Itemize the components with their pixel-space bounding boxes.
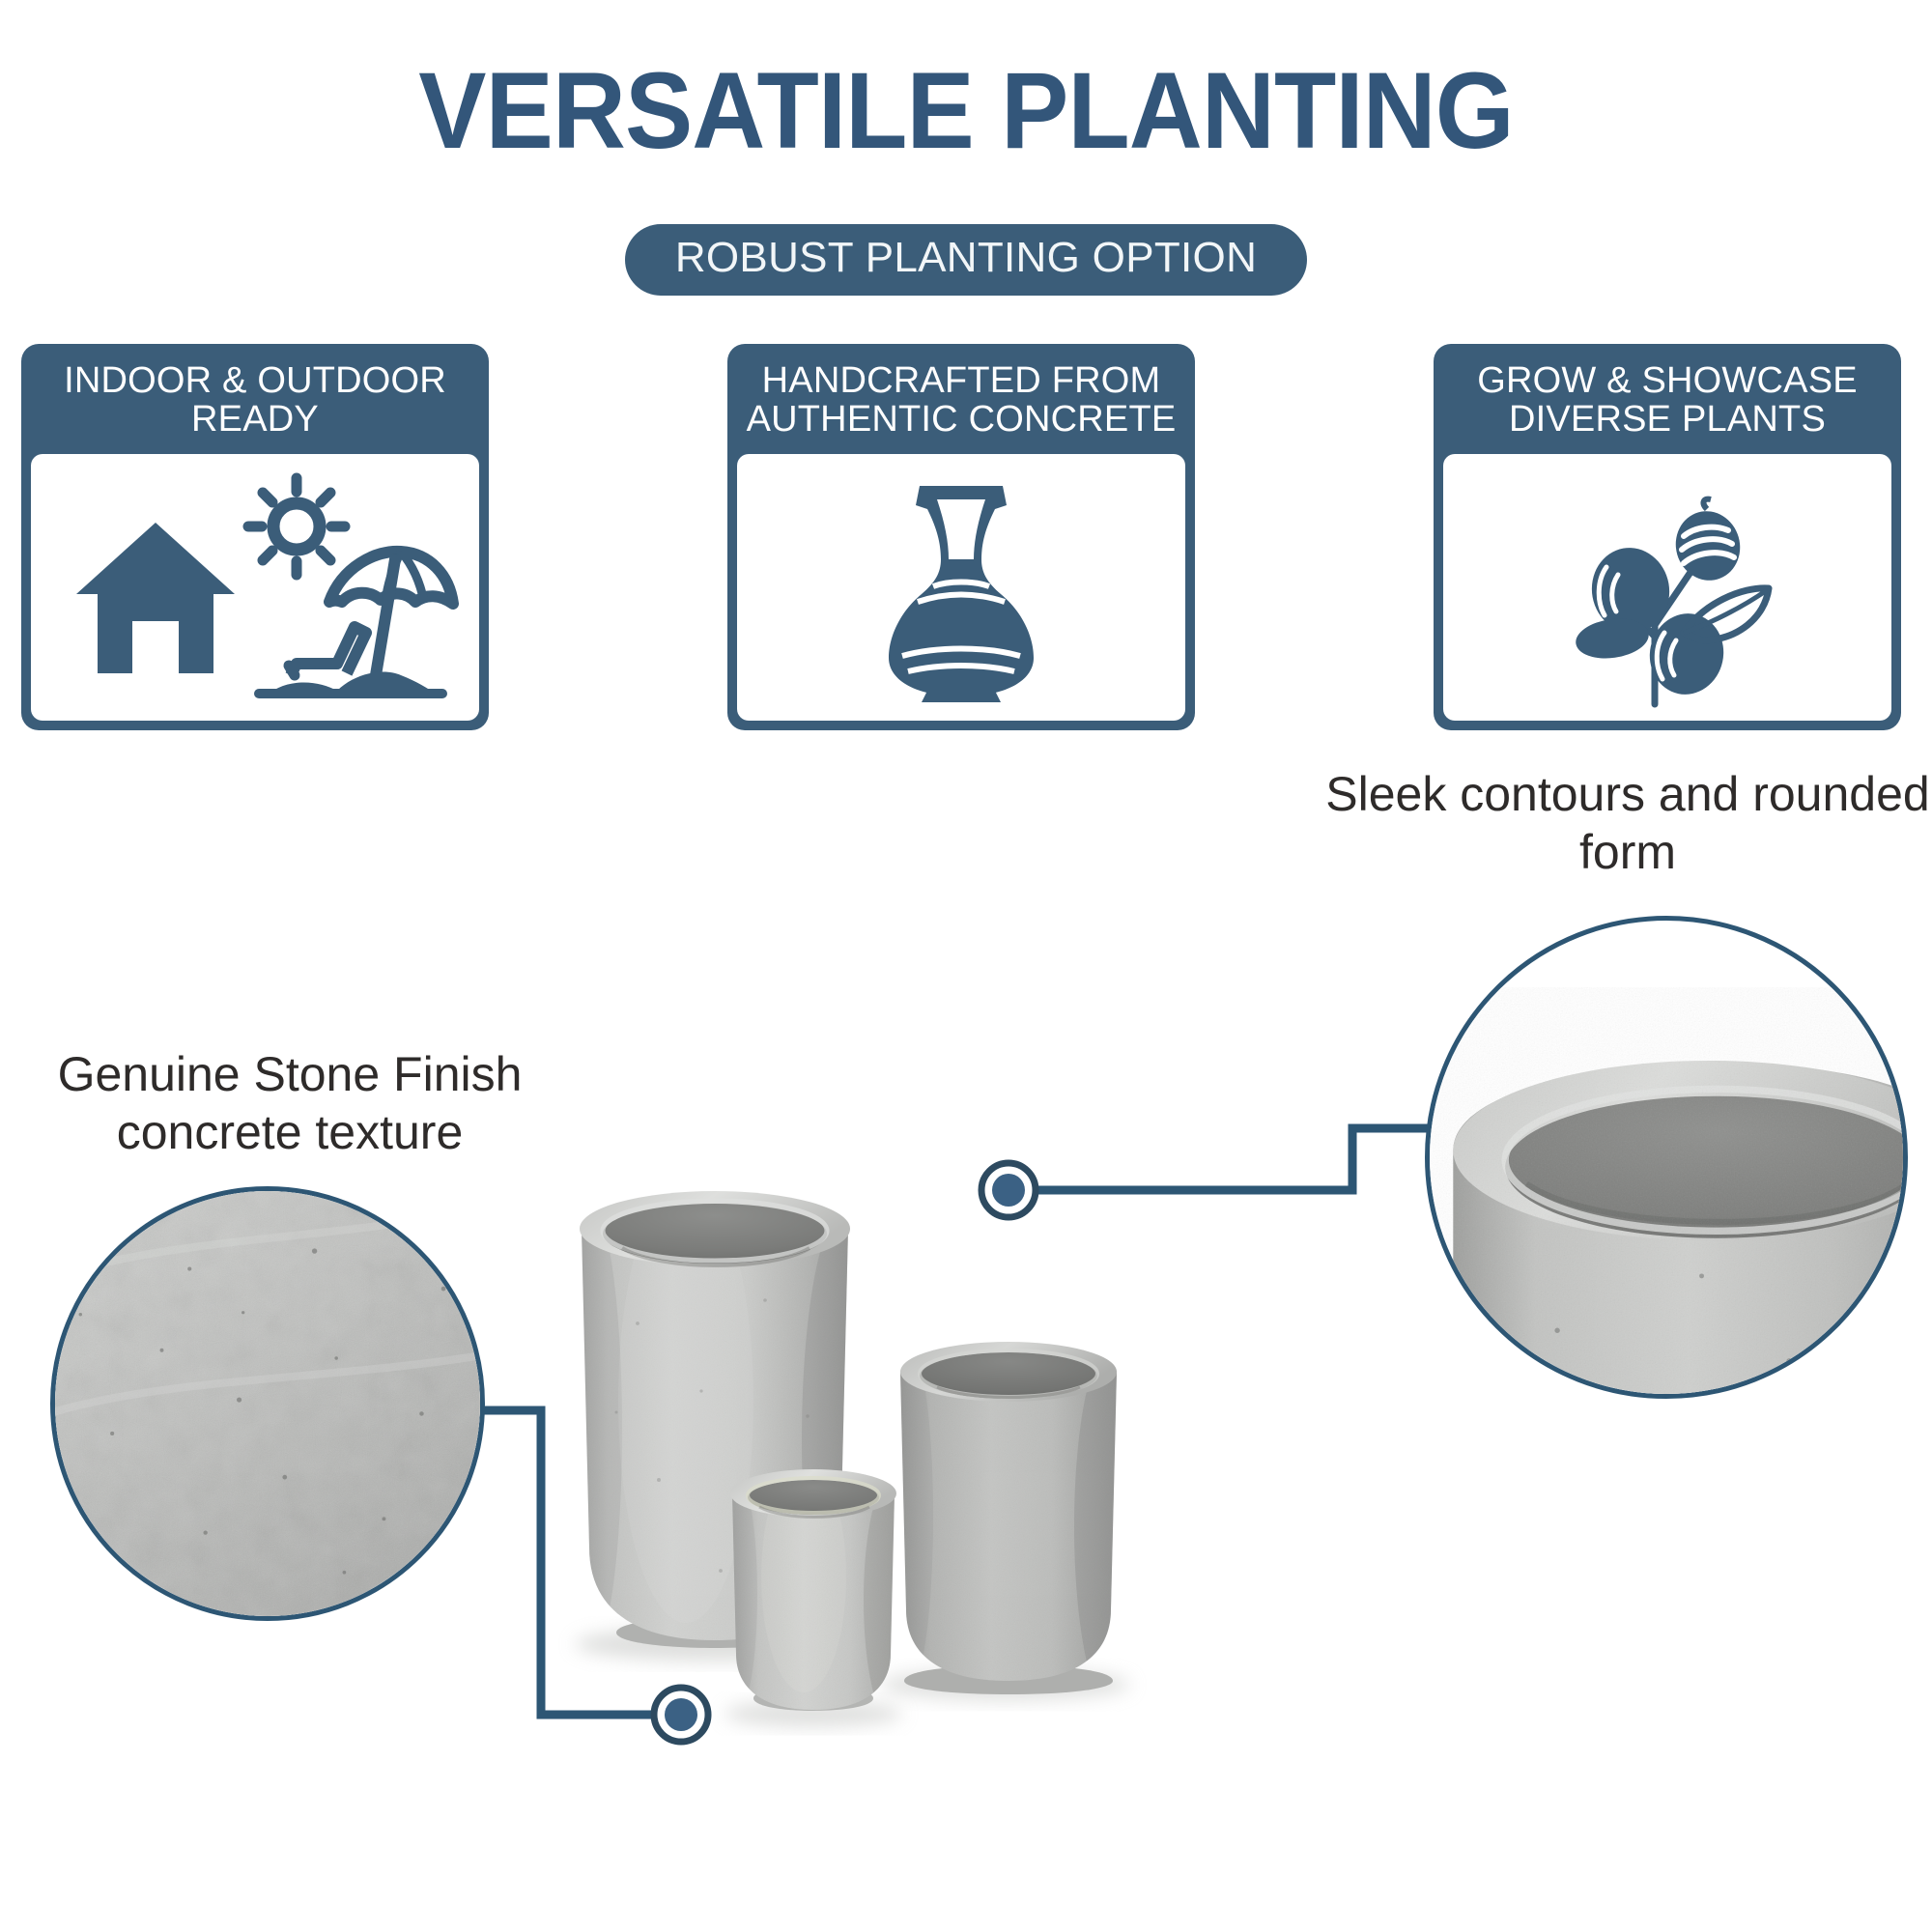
feature-card-title: GROW & SHOWCASE DIVERSE PLANTS [1443,354,1891,454]
feature-card-icon-area [31,454,479,721]
feature-card-handcrafted-concrete: HANDCRAFTED FROM AUTHENTIC CONCRETE [727,344,1195,730]
house-sun-beach-umbrella-icon [47,467,463,708]
callout-label-sleek-contours: Sleek contours and rounded form [1323,765,1932,881]
page-title: VERSATILE PLANTING [58,56,1874,166]
product-image-planter-set [522,1111,1391,1787]
detail-circle-image [55,1191,480,1616]
feature-card-title: INDOOR & OUTDOOR READY [31,354,479,454]
callout-label-stone-finish: Genuine Stone Finish concrete texture [10,1045,570,1161]
feature-card-title: HANDCRAFTED FROM AUTHENTIC CONCRETE [737,354,1185,454]
feature-card-grow-showcase: GROW & SHOWCASE DIVERSE PLANTS [1434,344,1901,730]
ceramic-vase-icon [840,467,1082,708]
planter-rim-closeup-graphic [1425,987,1908,1399]
feature-card-icon-area [737,454,1185,721]
feature-card-indoor-outdoor: INDOOR & OUTDOOR READY [21,344,489,730]
detail-circle-image [1430,921,1903,1394]
subtitle-pill: ROBUST PLANTING OPTION [625,224,1307,296]
subtitle-pill-wrapper: ROBUST PLANTING OPTION [0,224,1932,296]
detail-circle-rim-closeup [1425,916,1908,1399]
medium-planter [883,1342,1151,1710]
berry-sprig-plant-icon [1537,467,1798,708]
feature-cards-row: INDOOR & OUTDOOR READY [21,344,1901,730]
feature-card-icon-area [1443,454,1891,721]
concrete-planter-set-graphic [522,1111,1391,1787]
detail-circle-texture-closeup [50,1186,485,1621]
concrete-texture-closeup-graphic [50,1186,485,1621]
